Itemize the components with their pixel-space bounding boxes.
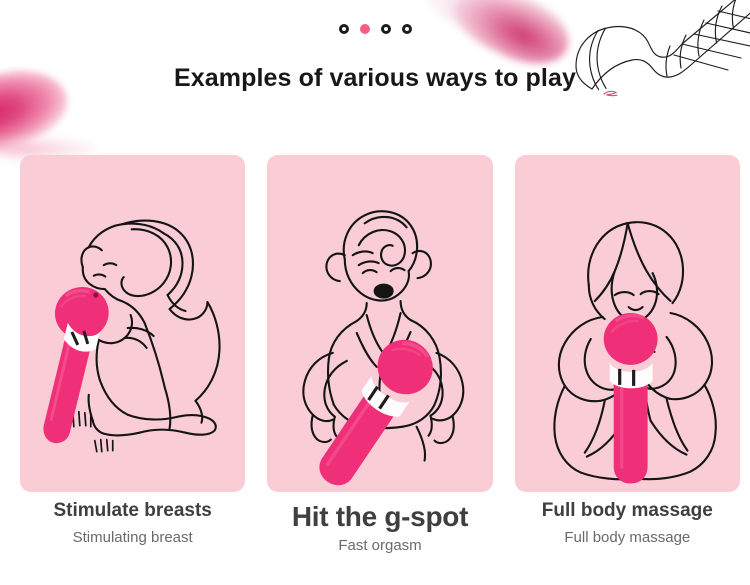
card-3-subtitle: Full body massage [515,529,740,547]
card-1-subtitle: Stimulating breast [20,529,245,547]
carousel-dot-4[interactable] [402,24,412,34]
carousel-dots[interactable] [0,24,750,34]
card-3-title: Full body massage [515,500,740,522]
petal-top-tail-decor [416,0,511,42]
page-title: Examples of various ways to play [0,64,750,93]
card-2-subtitle: Fast orgasm [267,537,492,555]
card-stimulate-breasts[interactable] [20,155,245,492]
illustration-woman-kneeling-with-wand [20,155,245,492]
caption-col-1: Stimulate breasts Stimulating breast [20,500,245,555]
card-1-title: Stimulate breasts [20,500,245,522]
carousel-dot-2-active[interactable] [360,24,370,34]
cards-row [20,155,740,492]
caption-col-2: Hit the g-spot Fast orgasm [267,500,492,555]
illustration-woman-arms-raised-with-wand [515,155,740,492]
card-hit-the-g-spot[interactable] [267,155,492,492]
wand-outline-icon [558,0,750,122]
carousel-dot-3[interactable] [381,24,391,34]
infographic-page: Examples of various ways to play [0,0,750,585]
wand-device [305,329,444,492]
carousel-dot-1[interactable] [339,24,349,34]
wand-device [603,313,657,483]
illustration-woman-front-view-with-wand [267,155,492,492]
captions-row: Stimulate breasts Stimulating breast Hit… [20,500,740,555]
card-full-body-massage[interactable] [515,155,740,492]
caption-col-3: Full body massage Full body massage [515,500,740,555]
card-2-title: Hit the g-spot [267,500,492,533]
